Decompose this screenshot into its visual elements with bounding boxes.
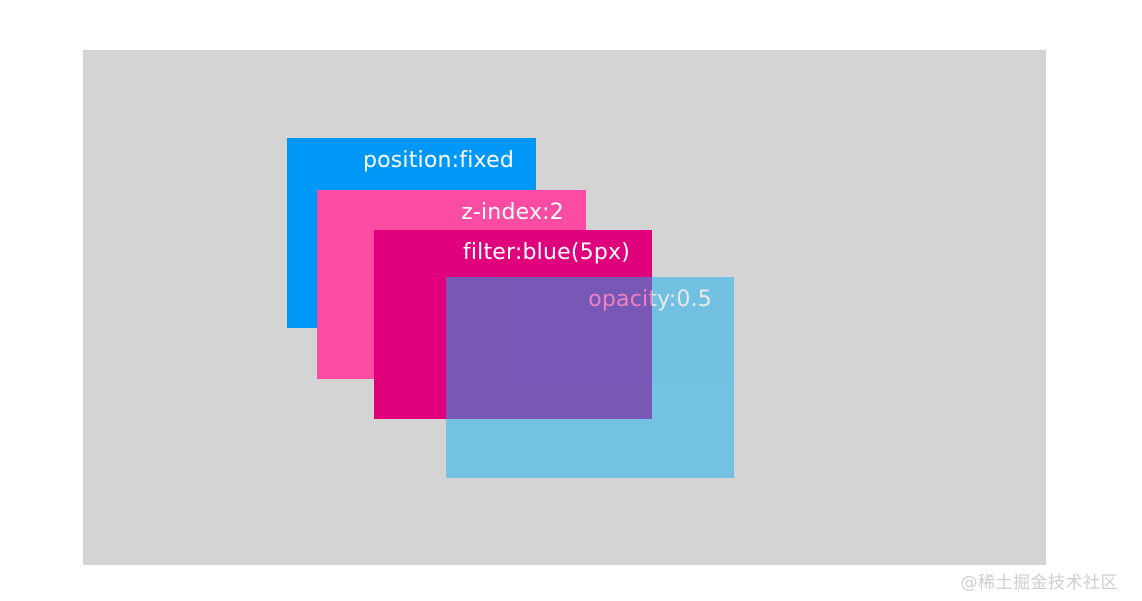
stacking-box-label-z-index: z-index:2 [461, 200, 564, 226]
diagram-stage: position:fixed z-index:2 filter:blue(5px… [0, 0, 1142, 601]
stacking-box-label-opacity: opacity:0.5 [588, 287, 712, 313]
viewport-panel: position:fixed z-index:2 filter:blue(5px… [83, 50, 1046, 565]
watermark: @稀土掘金技术社区 [961, 568, 1119, 593]
stacking-box-opacity[interactable]: opacity:0.5 [446, 277, 734, 478]
stacking-box-label-position-fixed: position:fixed [363, 148, 514, 174]
stacking-box-label-filter: filter:blue(5px) [463, 240, 630, 266]
